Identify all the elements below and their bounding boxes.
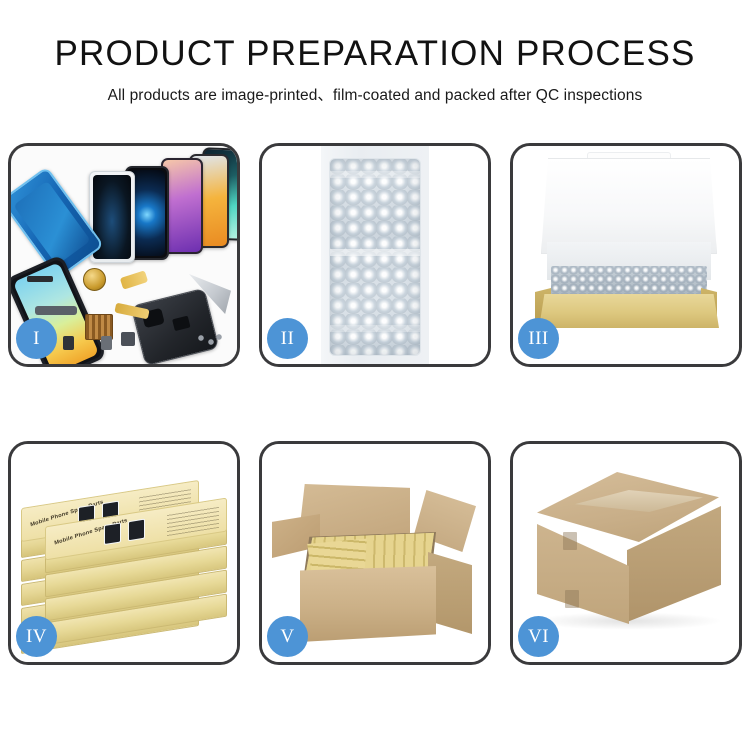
flex-cable-icon [120, 270, 148, 289]
step-panel-6[interactable]: VI [510, 441, 742, 665]
connector-icon [35, 306, 77, 315]
box-spec-lines [167, 506, 219, 536]
step-panel-2[interactable]: II [259, 143, 491, 367]
box-phone-image [104, 522, 121, 545]
step-badge-5: V [267, 616, 308, 657]
step-panel-4[interactable]: Mobile Phone Spare Parts Mobile Phone Sp… [8, 441, 240, 665]
carton-front-panel [300, 566, 436, 642]
small-part-icon [121, 332, 135, 346]
screws-icon [197, 334, 223, 346]
small-part-icon [63, 336, 74, 350]
step-badge-2: II [267, 318, 308, 359]
back-housing-icon [131, 288, 220, 364]
bubble-wrap-icon [329, 158, 421, 356]
bubble-wrap-icon [551, 266, 707, 296]
page-title: PRODUCT PREPARATION PROCESS [0, 32, 750, 76]
step-badge-4: IV [16, 616, 57, 657]
steps-grid: I II III [8, 143, 742, 689]
product-preparation-infographic: PRODUCT PREPARATION PROCESS All products… [0, 0, 750, 750]
box-lid-icon [541, 158, 717, 254]
page-subtitle: All products are image-printed、film-coat… [0, 83, 750, 105]
speaker-icon [83, 268, 106, 291]
step-panel-1[interactable]: I [8, 143, 240, 367]
small-part-icon [101, 336, 112, 350]
earpiece-icon [27, 276, 53, 282]
step-panel-5[interactable]: V [259, 441, 491, 665]
step-panel-3[interactable]: III [510, 143, 742, 367]
carton-notch [565, 590, 579, 608]
box-phone-image [128, 519, 145, 542]
box-front-panel [539, 294, 719, 328]
step-badge-6: VI [518, 616, 559, 657]
carton-left-panel [537, 524, 629, 624]
carton-notch [563, 532, 577, 550]
header: PRODUCT PREPARATION PROCESS All products… [0, 0, 750, 105]
step-badge-3: III [518, 318, 559, 359]
step-badge-1: I [16, 318, 57, 359]
